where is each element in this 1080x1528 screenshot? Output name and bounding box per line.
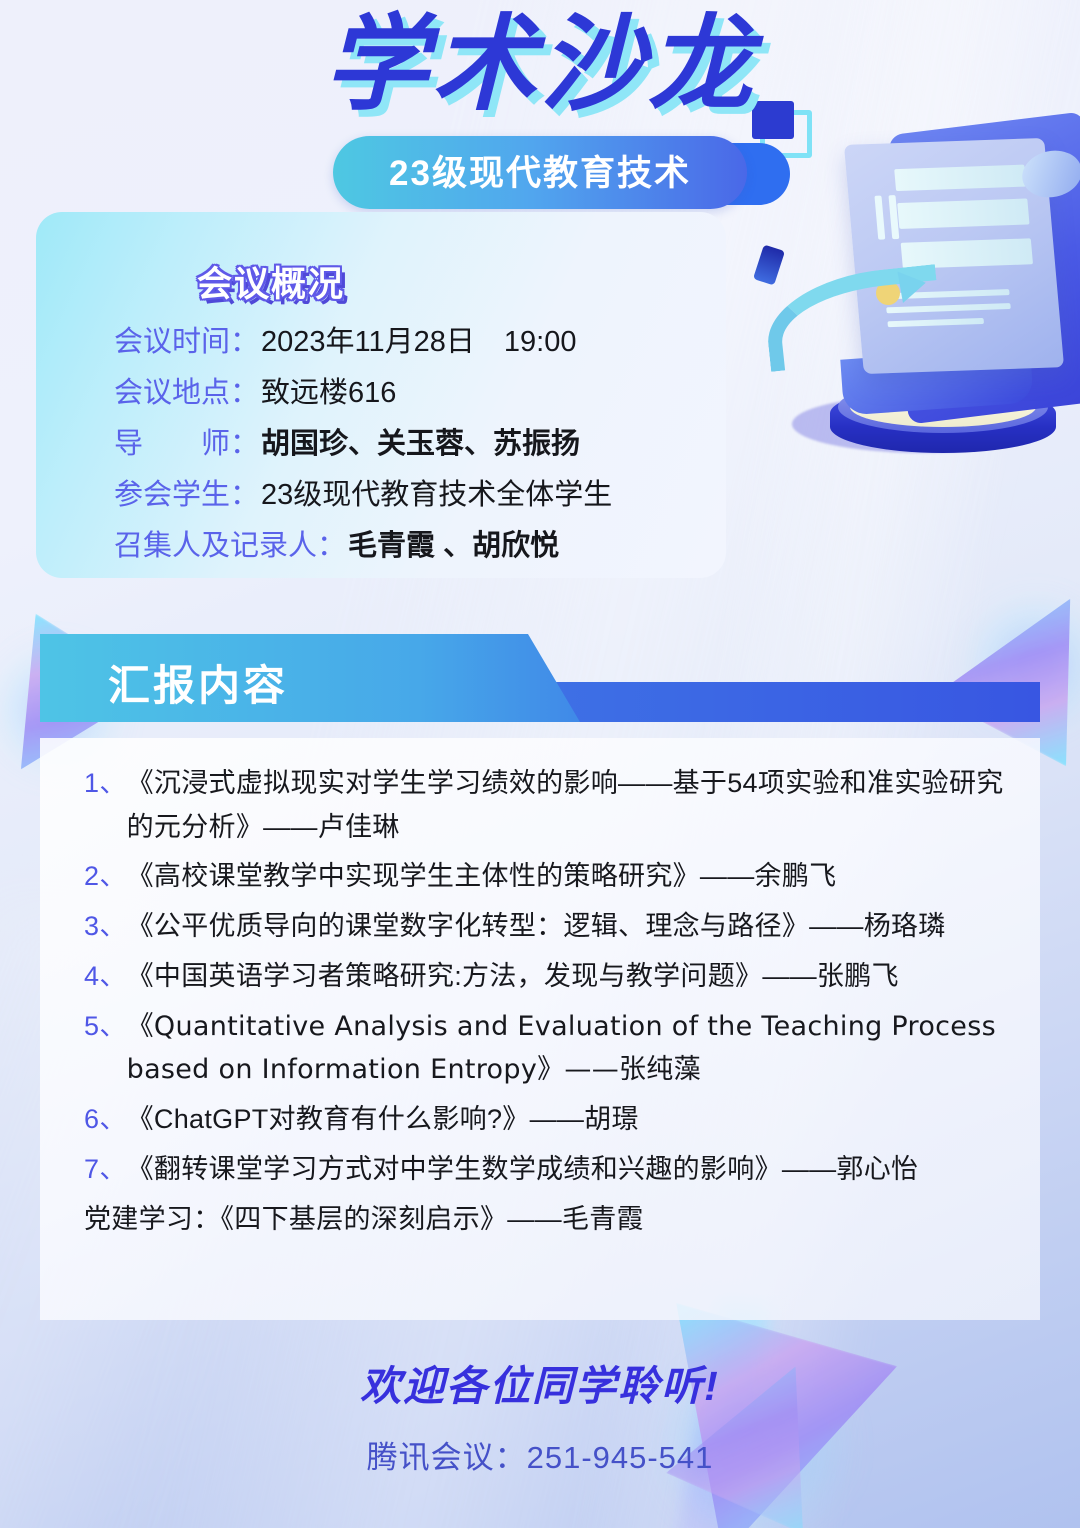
overview-row-students: 参会学生： 23级现代教育技术全体学生	[114, 477, 706, 514]
meeting-id-text: 腾讯会议：251-945-541	[0, 1432, 1080, 1477]
list-item: 3、 《公平优质导向的课堂数字化转型：逻辑、理念与路径》——杨珞璘	[84, 905, 1014, 949]
report-section-banner: 汇报内容	[40, 634, 1040, 738]
prism-triangle-icon	[613, 1303, 897, 1528]
overview-label: 参会学生：	[114, 477, 259, 514]
list-item-text: 《翻转课堂学习方式对中学生数学成绩和兴趣的影响》——郭心怡	[127, 1148, 1014, 1192]
overview-label: 召集人及记录人：	[114, 528, 346, 565]
banner-title: 汇报内容	[108, 652, 288, 713]
party-study-line: 党建学习：《四下基层的深刻启示》——毛青霞	[84, 1198, 1014, 1242]
list-item-number: 6、	[84, 1098, 127, 1142]
overview-row-location: 会议地点： 致远楼616	[114, 375, 706, 412]
page-title: 学术沙龙	[0, 8, 1080, 120]
list-item-number: 5、	[84, 1005, 127, 1049]
poster-root: 学术沙龙 23级现代教育技术 会议概况 会议时间： 2023年11月28日 19…	[0, 0, 1080, 1528]
poster-header: 学术沙龙 23级现代教育技术	[0, 8, 1080, 209]
list-item: 5、 《Quantitative Analysis and Evaluation…	[84, 1005, 1014, 1092]
overview-row-time: 会议时间： 2023年11月28日 19:00	[114, 324, 706, 361]
report-item-list: 1、 《沉浸式虚拟现实对学生学习绩效的影响——基于54项实验和准实验研究的元分析…	[84, 762, 1014, 1241]
arrow-head-icon	[897, 267, 928, 303]
overview-row-advisors: 导 师： 胡国珍、关玉蓉、苏振扬	[114, 426, 706, 463]
overview-rows: 会议时间： 2023年11月28日 19:00 会议地点： 致远楼616 导 师…	[114, 324, 706, 580]
overview-value: 23级现代教育技术全体学生	[261, 477, 612, 514]
list-item-text: 《公平优质导向的课堂数字化转型：逻辑、理念与路径》——杨珞璘	[127, 905, 1014, 949]
meeting-overview-card: 会议概况 会议时间： 2023年11月28日 19:00 会议地点： 致远楼61…	[36, 212, 726, 578]
overview-label: 会议时间：	[114, 324, 259, 361]
list-item-number: 3、	[84, 905, 127, 949]
list-item-text: 《高校课堂教学中实现学生主体性的策略研究》——余鹏飞	[127, 855, 1014, 899]
list-item-text: 《ChatGPT对教育有什么影响?》——胡璟	[127, 1098, 1014, 1142]
scroll-text-line	[901, 238, 1033, 268]
arrow-tail	[753, 244, 785, 285]
overview-value: 毛青霞 、胡欣悦	[348, 528, 559, 565]
list-item-text: 《沉浸式虚拟现实对学生学习绩效的影响——基于54项实验和准实验研究的元分析》——…	[127, 762, 1014, 849]
list-item: 2、 《高校课堂教学中实现学生主体性的策略研究》——余鹏飞	[84, 855, 1014, 899]
list-item: 6、 《ChatGPT对教育有什么影响?》——胡璟	[84, 1098, 1014, 1142]
list-item-number: 7、	[84, 1148, 127, 1192]
overview-value: 2023年11月28日 19:00	[261, 324, 576, 361]
overview-label: 会议地点：	[114, 375, 259, 412]
list-item: 7、 《翻转课堂学习方式对中学生数学成绩和兴趣的影响》——郭心怡	[84, 1148, 1014, 1192]
report-content-panel: 1、 《沉浸式虚拟现实对学生学习绩效的影响——基于54项实验和准实验研究的元分析…	[40, 738, 1040, 1320]
welcome-message: 欢迎各位同学聆听!	[0, 1352, 1080, 1412]
list-item-text: 《中国英语学习者策略研究:方法，发现与教学问题》——张鹏飞	[127, 955, 1014, 999]
subtitle-badge: 23级现代教育技术	[333, 136, 747, 209]
list-item: 4、 《中国英语学习者策略研究:方法，发现与教学问题》——张鹏飞	[84, 955, 1014, 999]
list-item-number: 2、	[84, 855, 127, 899]
list-item: 1、 《沉浸式虚拟现实对学生学习绩效的影响——基于54项实验和准实验研究的元分析…	[84, 762, 1014, 849]
list-item-text: 《Quantitative Analysis and Evaluation of…	[127, 1005, 1014, 1092]
overview-value: 致远楼616	[261, 375, 396, 412]
prism-shape	[613, 1303, 897, 1528]
overview-label: 导 师：	[114, 426, 259, 463]
overview-value: 胡国珍、关玉蓉、苏振扬	[261, 426, 580, 463]
light-beam	[662, 1298, 771, 1528]
overview-row-organizers: 召集人及记录人： 毛青霞 、胡欣悦	[114, 528, 706, 565]
list-item-number: 4、	[84, 955, 127, 999]
overview-heading: 会议概况	[36, 256, 506, 307]
list-item-number: 1、	[84, 762, 127, 806]
